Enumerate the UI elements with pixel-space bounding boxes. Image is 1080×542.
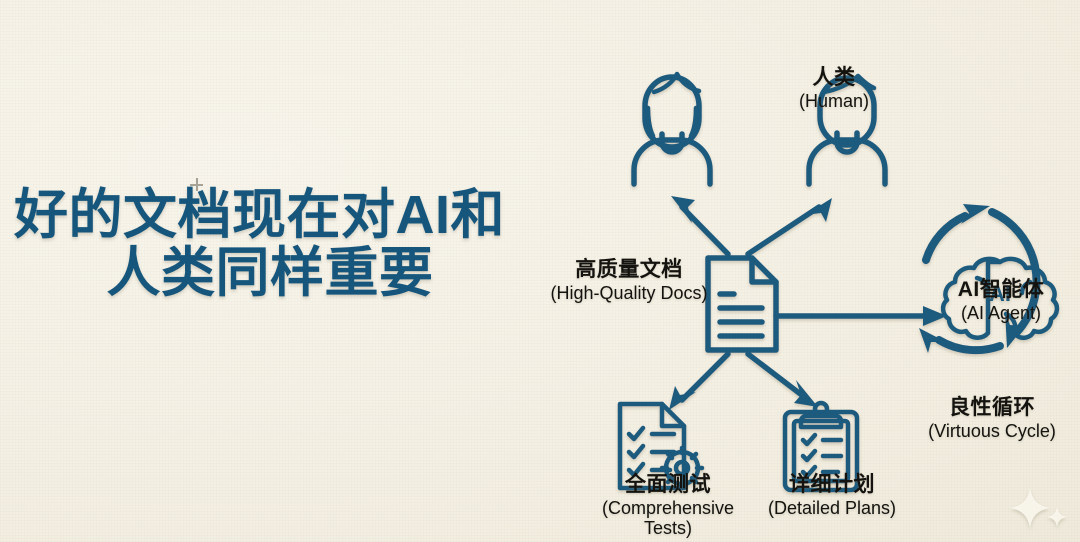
person-female-icon (634, 74, 710, 184)
label-virtuous-cycle: 良性循环 (Virtuous Cycle) (912, 396, 1072, 441)
crosshair-cursor-icon (190, 178, 204, 192)
label-agent-cn: AI智能体 (935, 278, 1067, 302)
arrow-docs-to-female (671, 196, 728, 254)
label-cycle-cn: 良性循环 (912, 396, 1072, 420)
label-ai-agent: AI智能体 (AI Agent) (935, 278, 1067, 323)
label-docs-cn: 高质量文档 (538, 258, 720, 282)
page-title: 好的文档现在对AI和 人类同样重要 (10, 186, 510, 303)
label-cycle-en: (Virtuous Cycle) (912, 421, 1072, 441)
arrow-docs-to-plans (748, 354, 818, 407)
page-title-line-1: 好的文档现在对AI和 (10, 186, 510, 244)
arrow-docs-to-tests (669, 354, 728, 410)
label-docs-en: (High-Quality Docs) (538, 283, 720, 303)
label-human: 人类 (Human) (759, 66, 909, 111)
label-human-cn: 人类 (759, 66, 909, 90)
page-title-line-2: 人类同样重要 (10, 244, 510, 302)
slide-canvas: 好的文档现在对AI和 人类同样重要 .st{stroke:#1a5a7e;str… (0, 0, 1080, 542)
label-human-en: (Human) (759, 91, 909, 111)
label-agent-en: (AI Agent) (935, 303, 1067, 323)
label-tests-en: (Comprehensive Tests) (578, 498, 758, 538)
arrow-docs-to-male (748, 198, 832, 254)
sparkle-icon (1010, 488, 1067, 528)
label-plans-en: (Detailed Plans) (748, 498, 916, 518)
label-high-quality-docs: 高质量文档 (High-Quality Docs) (538, 258, 720, 303)
label-tests-cn: 全面测试 (578, 473, 758, 497)
label-detailed-plans: 详细计划 (Detailed Plans) (748, 473, 916, 518)
label-plans-cn: 详细计划 (748, 473, 916, 497)
arrow-docs-to-agent (776, 306, 947, 326)
label-comprehensive-tests: 全面测试 (Comprehensive Tests) (578, 473, 758, 538)
